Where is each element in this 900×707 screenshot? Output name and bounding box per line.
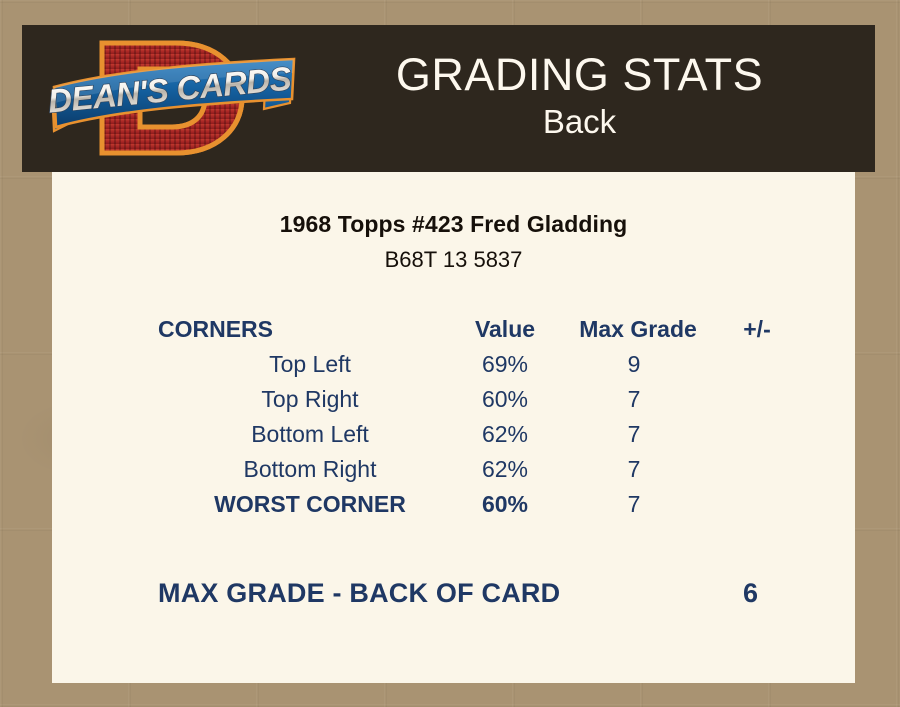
page-title: GRADING STATS xyxy=(314,51,845,98)
column-header-value: Value xyxy=(446,312,564,347)
row-plus-minus xyxy=(712,487,802,522)
table-row-worst-corner: WORST CORNER 60% 7 xyxy=(156,487,802,522)
row-plus-minus xyxy=(712,347,802,382)
row-label: Top Right xyxy=(156,382,446,417)
row-max-grade: 7 xyxy=(564,382,712,417)
header-bar: DEAN'S CARDS GRADING STATS Back xyxy=(22,25,875,172)
row-label: Top Left xyxy=(156,347,446,382)
row-value: 62% xyxy=(446,417,564,452)
row-label: Bottom Left xyxy=(156,417,446,452)
column-header-max-grade: Max Grade xyxy=(564,312,712,347)
header-title-block: GRADING STATS Back xyxy=(314,51,875,142)
table-row: Bottom Right 62% 7 xyxy=(156,452,802,487)
row-max-grade: 7 xyxy=(564,452,712,487)
row-value: 60% xyxy=(446,382,564,417)
row-value: 69% xyxy=(446,347,564,382)
row-max-grade: 7 xyxy=(564,487,712,522)
content-panel: 1968 Topps #423 Fred Gladding B68T 13 58… xyxy=(52,172,855,683)
column-header-corners: CORNERS xyxy=(156,312,446,347)
row-value: 60% xyxy=(446,487,564,522)
table-row: Top Right 60% 7 xyxy=(156,382,802,417)
column-header-plus-minus: +/- xyxy=(712,312,802,347)
row-max-grade: 7 xyxy=(564,417,712,452)
row-value: 62% xyxy=(446,452,564,487)
row-max-grade: 9 xyxy=(564,347,712,382)
row-plus-minus xyxy=(712,382,802,417)
corners-stats-table: CORNERS Value Max Grade +/- Top Left 69%… xyxy=(156,312,802,522)
final-grade-row: MAX GRADE - BACK OF CARD 6 xyxy=(156,578,802,609)
table-header-row: CORNERS Value Max Grade +/- xyxy=(156,312,802,347)
final-grade-label: MAX GRADE - BACK OF CARD xyxy=(156,578,560,609)
page-subtitle: Back xyxy=(314,101,845,142)
table-row: Bottom Left 62% 7 xyxy=(156,417,802,452)
table-row: Top Left 69% 9 xyxy=(156,347,802,382)
logo-artwork: DEAN'S CARDS xyxy=(44,29,314,169)
row-label: Bottom Right xyxy=(156,452,446,487)
deans-cards-logo: DEAN'S CARDS xyxy=(44,29,314,169)
card-serial-number: B68T 13 5837 xyxy=(52,247,855,273)
final-grade-value: 6 xyxy=(743,578,802,609)
row-label: WORST CORNER xyxy=(156,487,446,522)
row-plus-minus xyxy=(712,417,802,452)
card-title: 1968 Topps #423 Fred Gladding xyxy=(52,211,855,238)
row-plus-minus xyxy=(712,452,802,487)
